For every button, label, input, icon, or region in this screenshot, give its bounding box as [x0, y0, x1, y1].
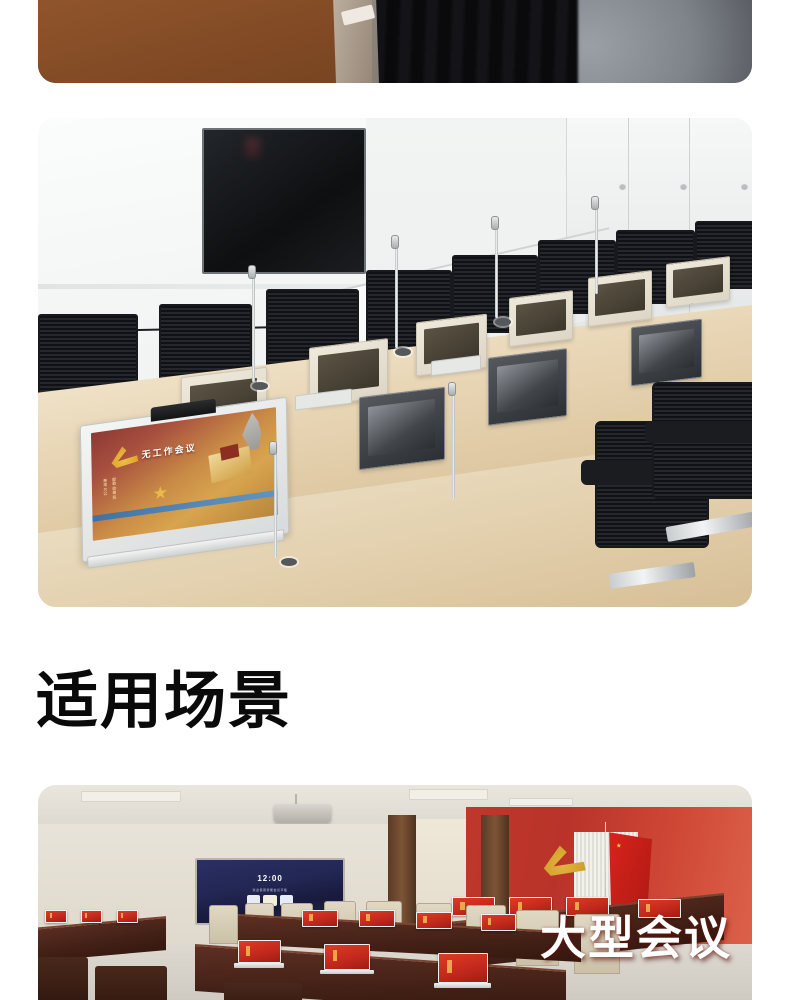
screen-base — [234, 963, 284, 967]
red-lcd-screen — [416, 912, 452, 929]
tv-reflection — [246, 138, 260, 158]
red-lcd-screen — [117, 910, 138, 923]
gooseneck-microphone — [274, 451, 277, 559]
product-detail-page: 无工作会议 奉常为公献敢政看民 — [0, 0, 790, 1000]
ceiling-light — [509, 798, 573, 807]
lcd-lift-screen — [488, 348, 567, 426]
conference-room-photo: 无工作会议 奉常为公献敢政看民 — [38, 118, 752, 607]
gooseneck-microphone — [595, 206, 598, 294]
foreground-chair — [95, 966, 166, 1000]
conference-chair — [209, 905, 238, 944]
cable-grommet — [395, 348, 411, 356]
screen-side-columns: 奉常为公献敢政看民 — [103, 474, 144, 529]
microphone-head — [391, 235, 399, 249]
microphone-head — [448, 382, 456, 396]
lcd-lift-screen-featured: 无工作会议 奉常为公献敢政看民 — [80, 397, 289, 563]
microphone-head — [491, 216, 499, 230]
ceiling-light — [81, 791, 181, 802]
foreground-chair — [224, 983, 303, 1000]
red-lcd-screen — [359, 910, 395, 927]
gooseneck-microphone — [495, 226, 498, 319]
gooseneck-microphone — [395, 245, 398, 348]
lcd-lift-screen — [509, 290, 573, 347]
lcd-lift-screen — [359, 387, 445, 471]
red-lcd-screen — [238, 940, 281, 964]
ceiling-projector — [274, 804, 331, 821]
wall-mounted-tv — [202, 128, 366, 275]
screen-content-party-meeting: 无工作会议 奉常为公献敢政看民 — [91, 408, 277, 542]
top-photo-scene — [38, 0, 752, 83]
wooden-table-edge — [38, 0, 372, 83]
lcd-lift-screen — [666, 256, 730, 308]
gooseneck-microphone — [252, 274, 255, 382]
screen-base — [434, 983, 491, 988]
red-lcd-screen — [324, 944, 370, 970]
overlay-label: 大型会议 — [540, 902, 732, 968]
hammer-and-sickle-icon — [108, 442, 140, 479]
display-subtitle: 欢迎使用智能会议平板 — [197, 888, 343, 892]
screen-base — [320, 970, 374, 974]
foreground-chair — [38, 957, 88, 1000]
chair-armrest — [645, 421, 752, 443]
lcd-lift-screen — [631, 319, 702, 386]
red-lcd-screen — [438, 953, 488, 983]
microphone-head — [269, 441, 277, 455]
gooseneck-microphone — [452, 392, 455, 500]
ceiling-light — [409, 789, 488, 800]
page-title: 适用场景 — [36, 665, 536, 736]
red-lcd-screen — [481, 914, 517, 931]
red-lcd-screen — [81, 910, 102, 923]
cable-grommet — [281, 558, 297, 566]
microphone-head — [248, 265, 256, 279]
microphone-head — [591, 196, 599, 210]
red-lcd-screen — [45, 910, 66, 923]
red-lcd-screen — [302, 910, 338, 927]
star-icon — [153, 486, 167, 502]
top-cropped-photo — [38, 0, 752, 83]
display-clock: 12:00 — [197, 874, 343, 883]
large-conference-photo: 12:00 欢迎使用智能会议平板 — [38, 785, 752, 1000]
